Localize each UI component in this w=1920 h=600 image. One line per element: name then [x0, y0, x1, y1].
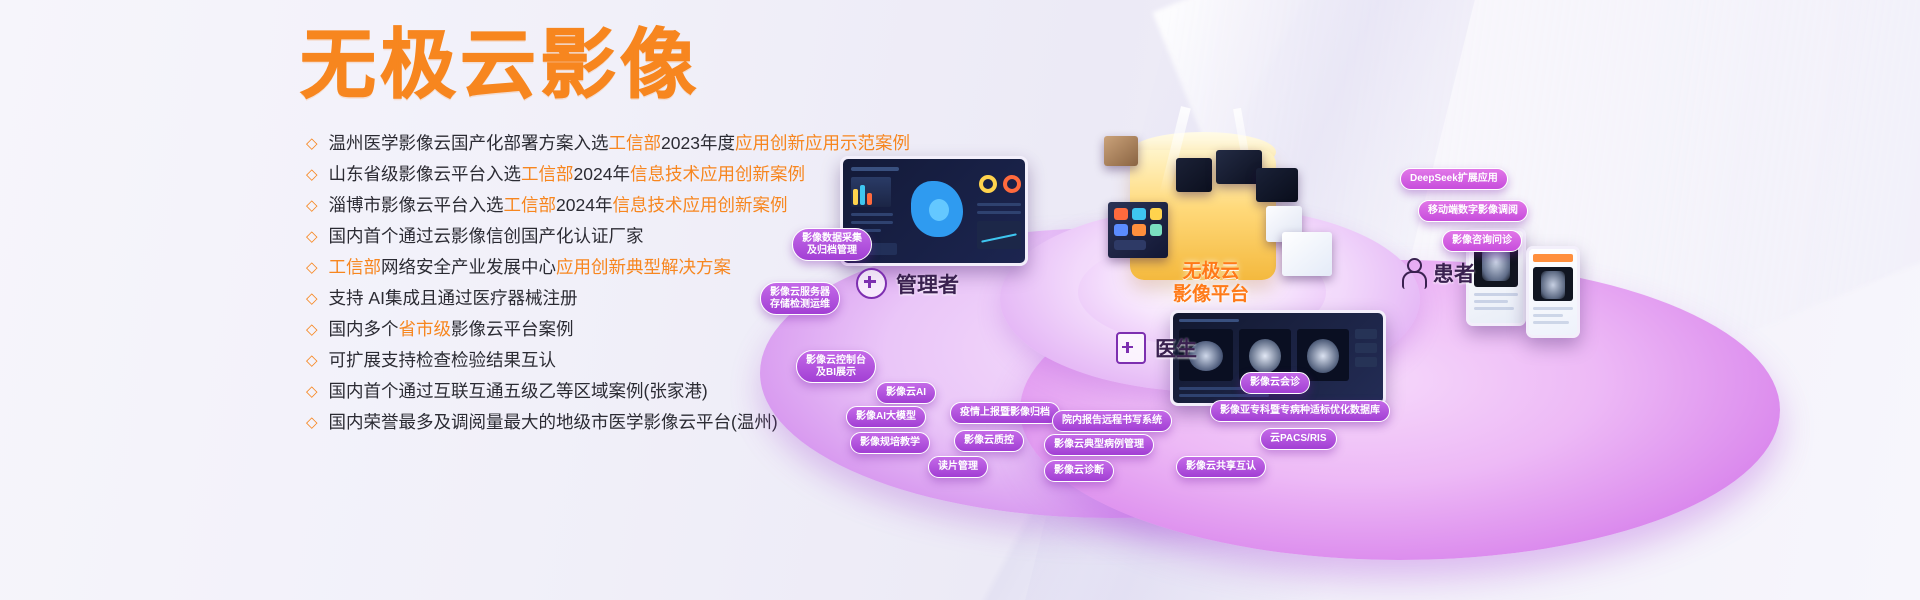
diamond-bullet-icon: ◇: [306, 221, 318, 252]
role-patient[interactable]: 患者: [1400, 258, 1475, 288]
capability-pill[interactable]: 影像云诊断: [1044, 460, 1114, 482]
plain-text: 国内首个通过云影像信创国产化认证厂家: [329, 226, 644, 246]
highlight-text: 工信部: [609, 133, 662, 153]
banner-stage: 无极云影像 ◇温州医学影像云国产化部署方案入选工信部2023年度应用创新应用示范…: [0, 0, 1920, 600]
person-icon: [1400, 258, 1424, 288]
feature-bullet-text: 工信部网络安全产业发展中心应用创新典型解决方案: [329, 252, 732, 283]
medical-record-icon: [1116, 332, 1146, 364]
capability-pill[interactable]: 影像AI大模型: [846, 406, 926, 428]
highlight-text: 工信部: [329, 257, 382, 277]
capability-pill[interactable]: 移动端数字影像调阅: [1418, 200, 1528, 222]
diamond-bullet-icon: ◇: [306, 283, 318, 314]
capability-pill[interactable]: 影像咨询问诊: [1442, 230, 1522, 252]
patient-mobile-screen-2: [1526, 246, 1580, 338]
capability-pill[interactable]: 影像云服务器存储检测运维: [760, 282, 840, 315]
capability-pill[interactable]: 影像云控制台及BI展示: [796, 350, 876, 383]
grid-tile: [1114, 224, 1128, 236]
role-doctor-label: 医生: [1155, 333, 1197, 363]
diamond-bullet-icon: ◇: [306, 159, 318, 190]
plain-text: 网络安全产业发展中心: [381, 257, 556, 277]
role-admin[interactable]: 管理者: [856, 268, 959, 299]
grid-tile: [1132, 208, 1146, 220]
plain-text: 淄博市影像云平台入选: [329, 195, 504, 215]
scan-film-1: [1104, 136, 1138, 166]
plain-text: 2024年: [556, 195, 612, 215]
grid-tile: [1114, 208, 1128, 220]
grid-tile: [1150, 208, 1162, 220]
capability-pill[interactable]: 云PACS/RIS: [1260, 428, 1337, 450]
diamond-bullet-icon: ◇: [306, 345, 318, 376]
chart-card-2: [1282, 232, 1332, 276]
scan-film-4: [1256, 168, 1298, 202]
grid-tile: [1132, 224, 1146, 236]
highlight-text: 工信部: [504, 195, 557, 215]
plain-text: 2024年: [574, 164, 630, 184]
feature-bullet-text: 国内首个通过互联互通五级乙等区域案例(张家港): [329, 376, 708, 407]
feature-bullet-text: 国内多个省市级影像云平台案例: [329, 314, 574, 345]
diamond-bullet-icon: ◇: [306, 407, 318, 438]
diamond-bullet-icon: ◇: [306, 376, 318, 407]
plain-text: 可扩展支持检查检验结果互认: [329, 350, 557, 370]
core-platform-label: 无极云 影像平台: [1152, 260, 1270, 306]
plain-text: 山东省级影像云平台入选: [329, 164, 522, 184]
feature-bullet-text: 国内首个通过云影像信创国产化认证厂家: [329, 221, 644, 252]
scan-film-2: [1176, 158, 1212, 192]
feature-bullet-text: 可扩展支持检查检验结果互认: [329, 345, 557, 376]
feature-bullet-text: 支持 AI集成且通过医疗器械注册: [329, 283, 578, 314]
diamond-bullet-icon: ◇: [306, 190, 318, 221]
capability-pill[interactable]: 影像规培教学: [850, 432, 930, 454]
capability-pill[interactable]: 影像云AI: [876, 382, 936, 404]
grid-tile: [1150, 224, 1162, 236]
plain-text: 支持 AI集成且通过医疗器械注册: [329, 288, 578, 308]
capability-pill[interactable]: 影像亚专科暨专病种适标优化数据库: [1210, 400, 1390, 422]
capability-pill[interactable]: 影像云典型病例管理: [1044, 434, 1154, 456]
capability-pill[interactable]: 影像云共享互认: [1176, 456, 1266, 478]
plus-circle-icon: [856, 268, 887, 299]
capability-pill[interactable]: 影像数据采集及归档管理: [792, 228, 872, 261]
highlight-text: 工信部: [521, 164, 574, 184]
plain-text: 影像云平台案例: [451, 319, 574, 339]
core-label-line1: 无极云: [1182, 261, 1239, 282]
plain-text: 温州医学影像云国产化部署方案入选: [329, 133, 609, 153]
grid-tile: [1114, 240, 1146, 250]
highlight-text: 省市级: [399, 319, 452, 339]
capability-pill[interactable]: 读片管理: [928, 456, 988, 478]
role-admin-label: 管理者: [896, 269, 959, 299]
platform-diagram: 无极云 影像平台: [700, 110, 1920, 600]
capability-pill[interactable]: DeepSeek扩展应用: [1400, 168, 1508, 190]
core-label-line2: 影像平台: [1173, 284, 1249, 305]
diamond-bullet-icon: ◇: [306, 252, 318, 283]
page-title: 无极云影像: [300, 22, 700, 108]
capability-pill[interactable]: 影像云会诊: [1240, 372, 1310, 394]
diamond-bullet-icon: ◇: [306, 128, 318, 159]
capability-pill[interactable]: 院内报告远程书写系统: [1052, 410, 1172, 432]
plain-text: 国内多个: [329, 319, 399, 339]
plain-text: 国内首个通过互联互通五级乙等区域案例(张家港): [329, 381, 708, 401]
capability-pill[interactable]: 影像云质控: [954, 430, 1024, 452]
role-patient-label: 患者: [1433, 258, 1475, 288]
capability-pill[interactable]: 疫情上报暨影像归档: [950, 402, 1060, 424]
diamond-bullet-icon: ◇: [306, 314, 318, 345]
role-doctor[interactable]: 医生: [1116, 332, 1197, 364]
